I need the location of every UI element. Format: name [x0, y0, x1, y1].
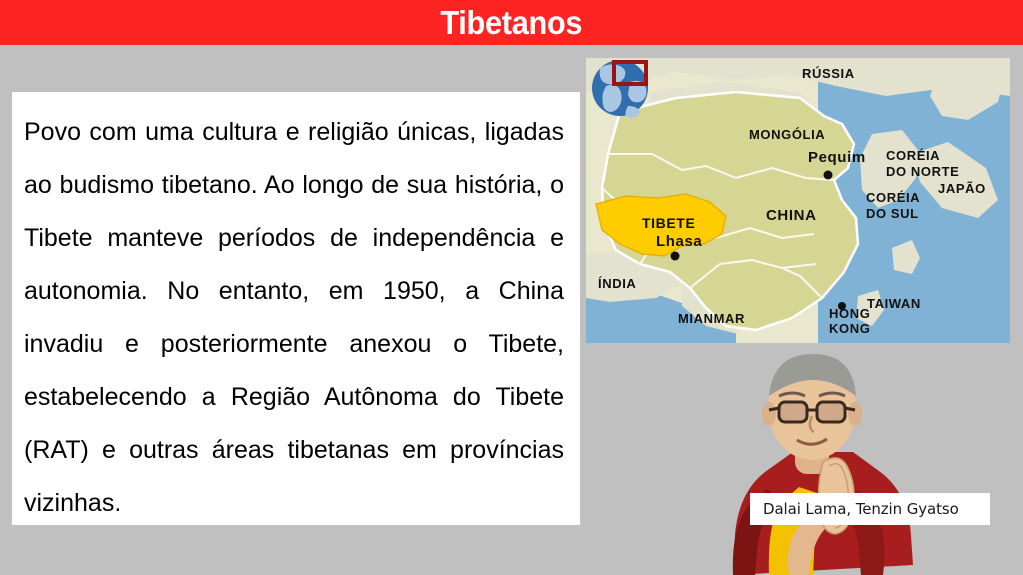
map-figure: RÚSSIA MONGÓLIA CHINA TIBETE ÍNDIA MIANM…	[586, 58, 1010, 343]
map-label-mongolia: MONGÓLIA	[749, 127, 825, 142]
title-bar: Tibetanos	[0, 0, 1023, 45]
portrait-figure	[583, 344, 1023, 575]
page-title: Tibetanos	[441, 6, 583, 39]
left-ear	[762, 402, 776, 426]
map-label-tibete: TIBETE	[642, 215, 695, 231]
city-dot-lhasa	[671, 252, 680, 261]
map-label-mianmar: MIANMAR	[678, 311, 745, 326]
right-ear	[848, 402, 862, 426]
portrait-graphic	[583, 344, 1023, 575]
map-label-russia: RÚSSIA	[802, 66, 855, 81]
map-label-china: CHINA	[766, 207, 817, 224]
city-dot-pequim	[824, 171, 833, 180]
portrait-caption: Dalai Lama, Tenzin Gyatso	[750, 493, 990, 525]
map-label-taiwan: TAIWAN	[867, 296, 921, 311]
body-text-card: Povo com uma cultura e religião únicas, …	[12, 92, 580, 525]
map-label-coreia-norte-line1: CORÉIA	[886, 148, 940, 163]
map-label-japao: JAPÃO	[938, 181, 986, 196]
map-label-coreia-sul-line1: CORÉIA	[866, 190, 920, 205]
map-label-coreia-sul-line2: DO SUL	[866, 206, 919, 221]
slide-canvas: Tibetanos Povo com uma cultura e religiã…	[0, 0, 1023, 575]
map-label-coreia-norte-line2: DO NORTE	[886, 164, 959, 179]
body-paragraph: Povo com uma cultura e religião únicas, …	[24, 106, 564, 530]
map-label-india: ÍNDIA	[598, 276, 636, 291]
map-label-lhasa: Lhasa	[656, 233, 702, 250]
map-label-pequim: Pequim	[808, 149, 866, 166]
map-label-hongkong-line1: HONG	[829, 306, 870, 321]
map-label-hongkong-line2: KONG	[829, 321, 870, 336]
map-graphic: RÚSSIA MONGÓLIA CHINA TIBETE ÍNDIA MIANM…	[586, 58, 1010, 343]
portrait-caption-text: Dalai Lama, Tenzin Gyatso	[763, 500, 959, 518]
